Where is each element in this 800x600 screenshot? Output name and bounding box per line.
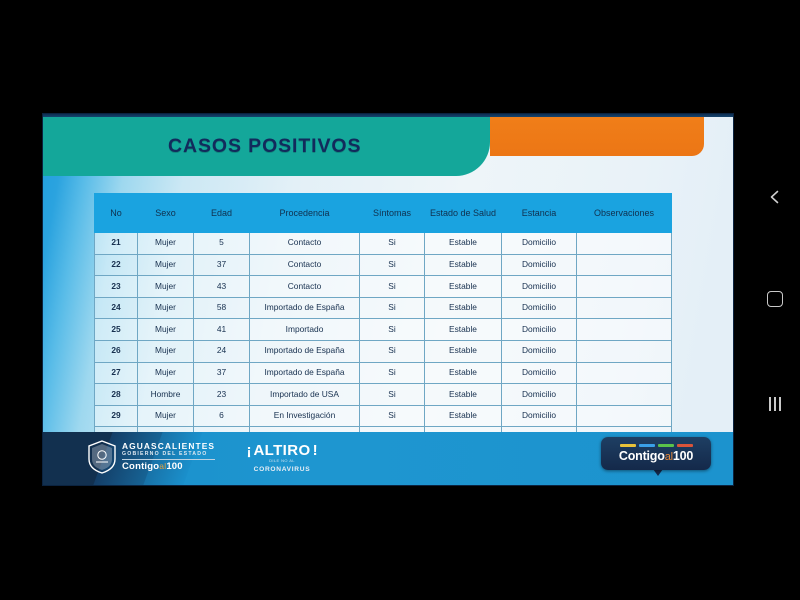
cell-no: 25 [95,319,138,341]
column-header-observaciones: Observaciones [577,194,672,233]
cell-no: 21 [95,233,138,255]
altiro-bang-right: ! [313,443,318,458]
cell-sintomas: Si [360,384,425,406]
gov-slogan-num: 100 [166,461,182,472]
cell-sexo: Hombre [138,384,194,406]
cell-no: 24 [95,297,138,319]
cell-edad: 24 [194,340,250,362]
cell-sexo: Mujer [138,233,194,255]
cell-observaciones [577,319,672,341]
cell-observaciones [577,233,672,255]
contigo-al: al [665,451,673,463]
cell-estado: Estable [425,319,502,341]
cell-observaciones [577,405,672,427]
altiro-campaign-logo: ¡ ALTIRO ! DILE NO AL CORONAVIRUS [251,438,313,478]
cell-sexo: Mujer [138,362,194,384]
table-row: 25Mujer41ImportadoSiEstableDomicilio [95,319,672,341]
orange-accent-bar [490,117,704,156]
cell-sintomas: Si [360,405,425,427]
cell-sexo: Mujer [138,340,194,362]
gov-state-name: AGUASCALIENTES [122,442,215,450]
contigo-bubble-tail [653,469,663,476]
coat-of-arms-icon [87,440,117,474]
cell-no: 22 [95,254,138,276]
cell-edad: 58 [194,297,250,319]
cell-procedencia: Contacto [250,254,360,276]
column-header-estancia: Estancia [502,194,577,233]
nav-back-button[interactable] [762,184,788,210]
table-row: 27Mujer37Importado de EspañaSiEstableDom… [95,362,672,384]
cell-sintomas: Si [360,233,425,255]
cell-edad: 6 [194,405,250,427]
cell-estancia: Domicilio [502,319,577,341]
cell-estancia: Domicilio [502,405,577,427]
nav-home-button[interactable] [762,286,788,312]
column-header-estado-salud: Estado de Salud [425,194,502,233]
cell-sintomas: Si [360,319,425,341]
cell-observaciones [577,297,672,319]
cell-edad: 43 [194,276,250,298]
cell-edad: 5 [194,233,250,255]
cell-no: 28 [95,384,138,406]
altiro-word: ALTIRO [253,443,310,458]
government-logo: AGUASCALIENTES GOBIERNO DEL ESTADO Conti… [87,440,215,474]
table-row: 28Hombre23Importado de USASiEstableDomic… [95,384,672,406]
table-row: 21Mujer5ContactoSiEstableDomicilio [95,233,672,255]
cell-estancia: Domicilio [502,233,577,255]
column-header-procedencia: Procedencia [250,194,360,233]
chevron-left-icon [767,189,783,205]
cell-edad: 37 [194,254,250,276]
cell-estado: Estable [425,254,502,276]
page-title: CASOS POSITIVOS [168,135,361,158]
gov-subtitle: GOBIERNO DEL ESTADO [122,452,215,457]
table-row: 23Mujer43ContactoSiEstableDomicilio [95,276,672,298]
contigo-brand: Contigo [619,449,665,463]
altiro-mini-text: DILE NO AL [269,458,295,463]
contigo-bar-3 [658,444,674,447]
cell-sintomas: Si [360,276,425,298]
cell-edad: 41 [194,319,250,341]
cell-sexo: Mujer [138,276,194,298]
contigo-wordmark: Contigoal100 [619,449,693,463]
cell-procedencia: Contacto [250,233,360,255]
cell-edad: 23 [194,384,250,406]
cell-procedencia: En Investigación [250,405,360,427]
cell-procedencia: Contacto [250,276,360,298]
three-bars-icon [769,397,781,411]
cell-sexo: Mujer [138,297,194,319]
cell-sintomas: Si [360,362,425,384]
contigo-bar-2 [639,444,655,447]
table-header-row: No Sexo Edad Procedencia Síntomas Estado… [95,194,672,233]
cell-observaciones [577,384,672,406]
nav-recents-button[interactable] [762,391,788,417]
gov-slogan-brand: Contigo [122,461,159,472]
table-row: 22Mujer37ContactoSiEstableDomicilio [95,254,672,276]
cell-no: 27 [95,362,138,384]
device-screenshot: CASOS POSITIVOS No Sexo Edad Procedencia… [0,0,800,600]
altiro-subtitle: CORONAVIRUS [254,466,311,473]
cell-no: 26 [95,340,138,362]
cell-estado: Estable [425,233,502,255]
altiro-bang-left: ¡ [246,443,251,458]
cell-estado: Estable [425,405,502,427]
table-row: 24Mujer58Importado de EspañaSiEstableDom… [95,297,672,319]
contigo-al-100-logo: Contigoal100 [601,437,711,470]
cell-sexo: Mujer [138,319,194,341]
recents-bar-3 [779,397,781,411]
cell-sintomas: Si [360,297,425,319]
cell-no: 29 [95,405,138,427]
column-header-sexo: Sexo [138,194,194,233]
gov-divider [122,459,215,460]
cell-procedencia: Importado de USA [250,384,360,406]
table-row: 26Mujer24Importado de EspañaSiEstableDom… [95,340,672,362]
cell-observaciones [577,276,672,298]
column-header-edad: Edad [194,194,250,233]
cell-estancia: Domicilio [502,276,577,298]
cell-estado: Estable [425,362,502,384]
cell-estancia: Domicilio [502,254,577,276]
table-row: 29Mujer6En InvestigaciónSiEstableDomicil… [95,405,672,427]
gov-slogan: Contigoal100 [122,462,215,472]
cell-estancia: Domicilio [502,384,577,406]
cell-procedencia: Importado de España [250,340,360,362]
title-banner: CASOS POSITIVOS [43,117,490,176]
cases-table: No Sexo Edad Procedencia Síntomas Estado… [94,193,672,449]
cell-estado: Estable [425,297,502,319]
cell-sexo: Mujer [138,254,194,276]
contigo-bar-4 [677,444,693,447]
recents-bar-1 [769,397,771,411]
cell-sintomas: Si [360,340,425,362]
cell-observaciones [577,254,672,276]
cell-procedencia: Importado [250,319,360,341]
cell-procedencia: Importado de España [250,362,360,384]
contigo-num: 100 [673,449,693,463]
slide-footer: AGUASCALIENTES GOBIERNO DEL ESTADO Conti… [43,432,733,485]
cell-sintomas: Si [360,254,425,276]
recents-bar-2 [774,397,776,411]
cell-estancia: Domicilio [502,297,577,319]
contigo-bar-1 [620,444,636,447]
cell-estado: Estable [425,384,502,406]
cell-estado: Estable [425,276,502,298]
cell-edad: 37 [194,362,250,384]
altiro-wordmark-row: ¡ ALTIRO ! [246,443,317,458]
cell-estancia: Domicilio [502,362,577,384]
cases-table-wrapper: No Sexo Edad Procedencia Síntomas Estado… [94,193,671,449]
cell-procedencia: Importado de España [250,297,360,319]
cases-table-body: 21Mujer5ContactoSiEstableDomicilio22Muje… [95,233,672,449]
column-header-no: No [95,194,138,233]
cell-sexo: Mujer [138,405,194,427]
rounded-square-icon [767,291,783,307]
contigo-color-bars [620,444,693,447]
cell-no: 23 [95,276,138,298]
cell-estado: Estable [425,340,502,362]
presentation-slide: CASOS POSITIVOS No Sexo Edad Procedencia… [43,114,733,485]
government-logo-wordmark: AGUASCALIENTES GOBIERNO DEL ESTADO Conti… [122,442,215,471]
cell-observaciones [577,340,672,362]
cell-observaciones [577,362,672,384]
column-header-sintomas: Síntomas [360,194,425,233]
cell-estancia: Domicilio [502,340,577,362]
